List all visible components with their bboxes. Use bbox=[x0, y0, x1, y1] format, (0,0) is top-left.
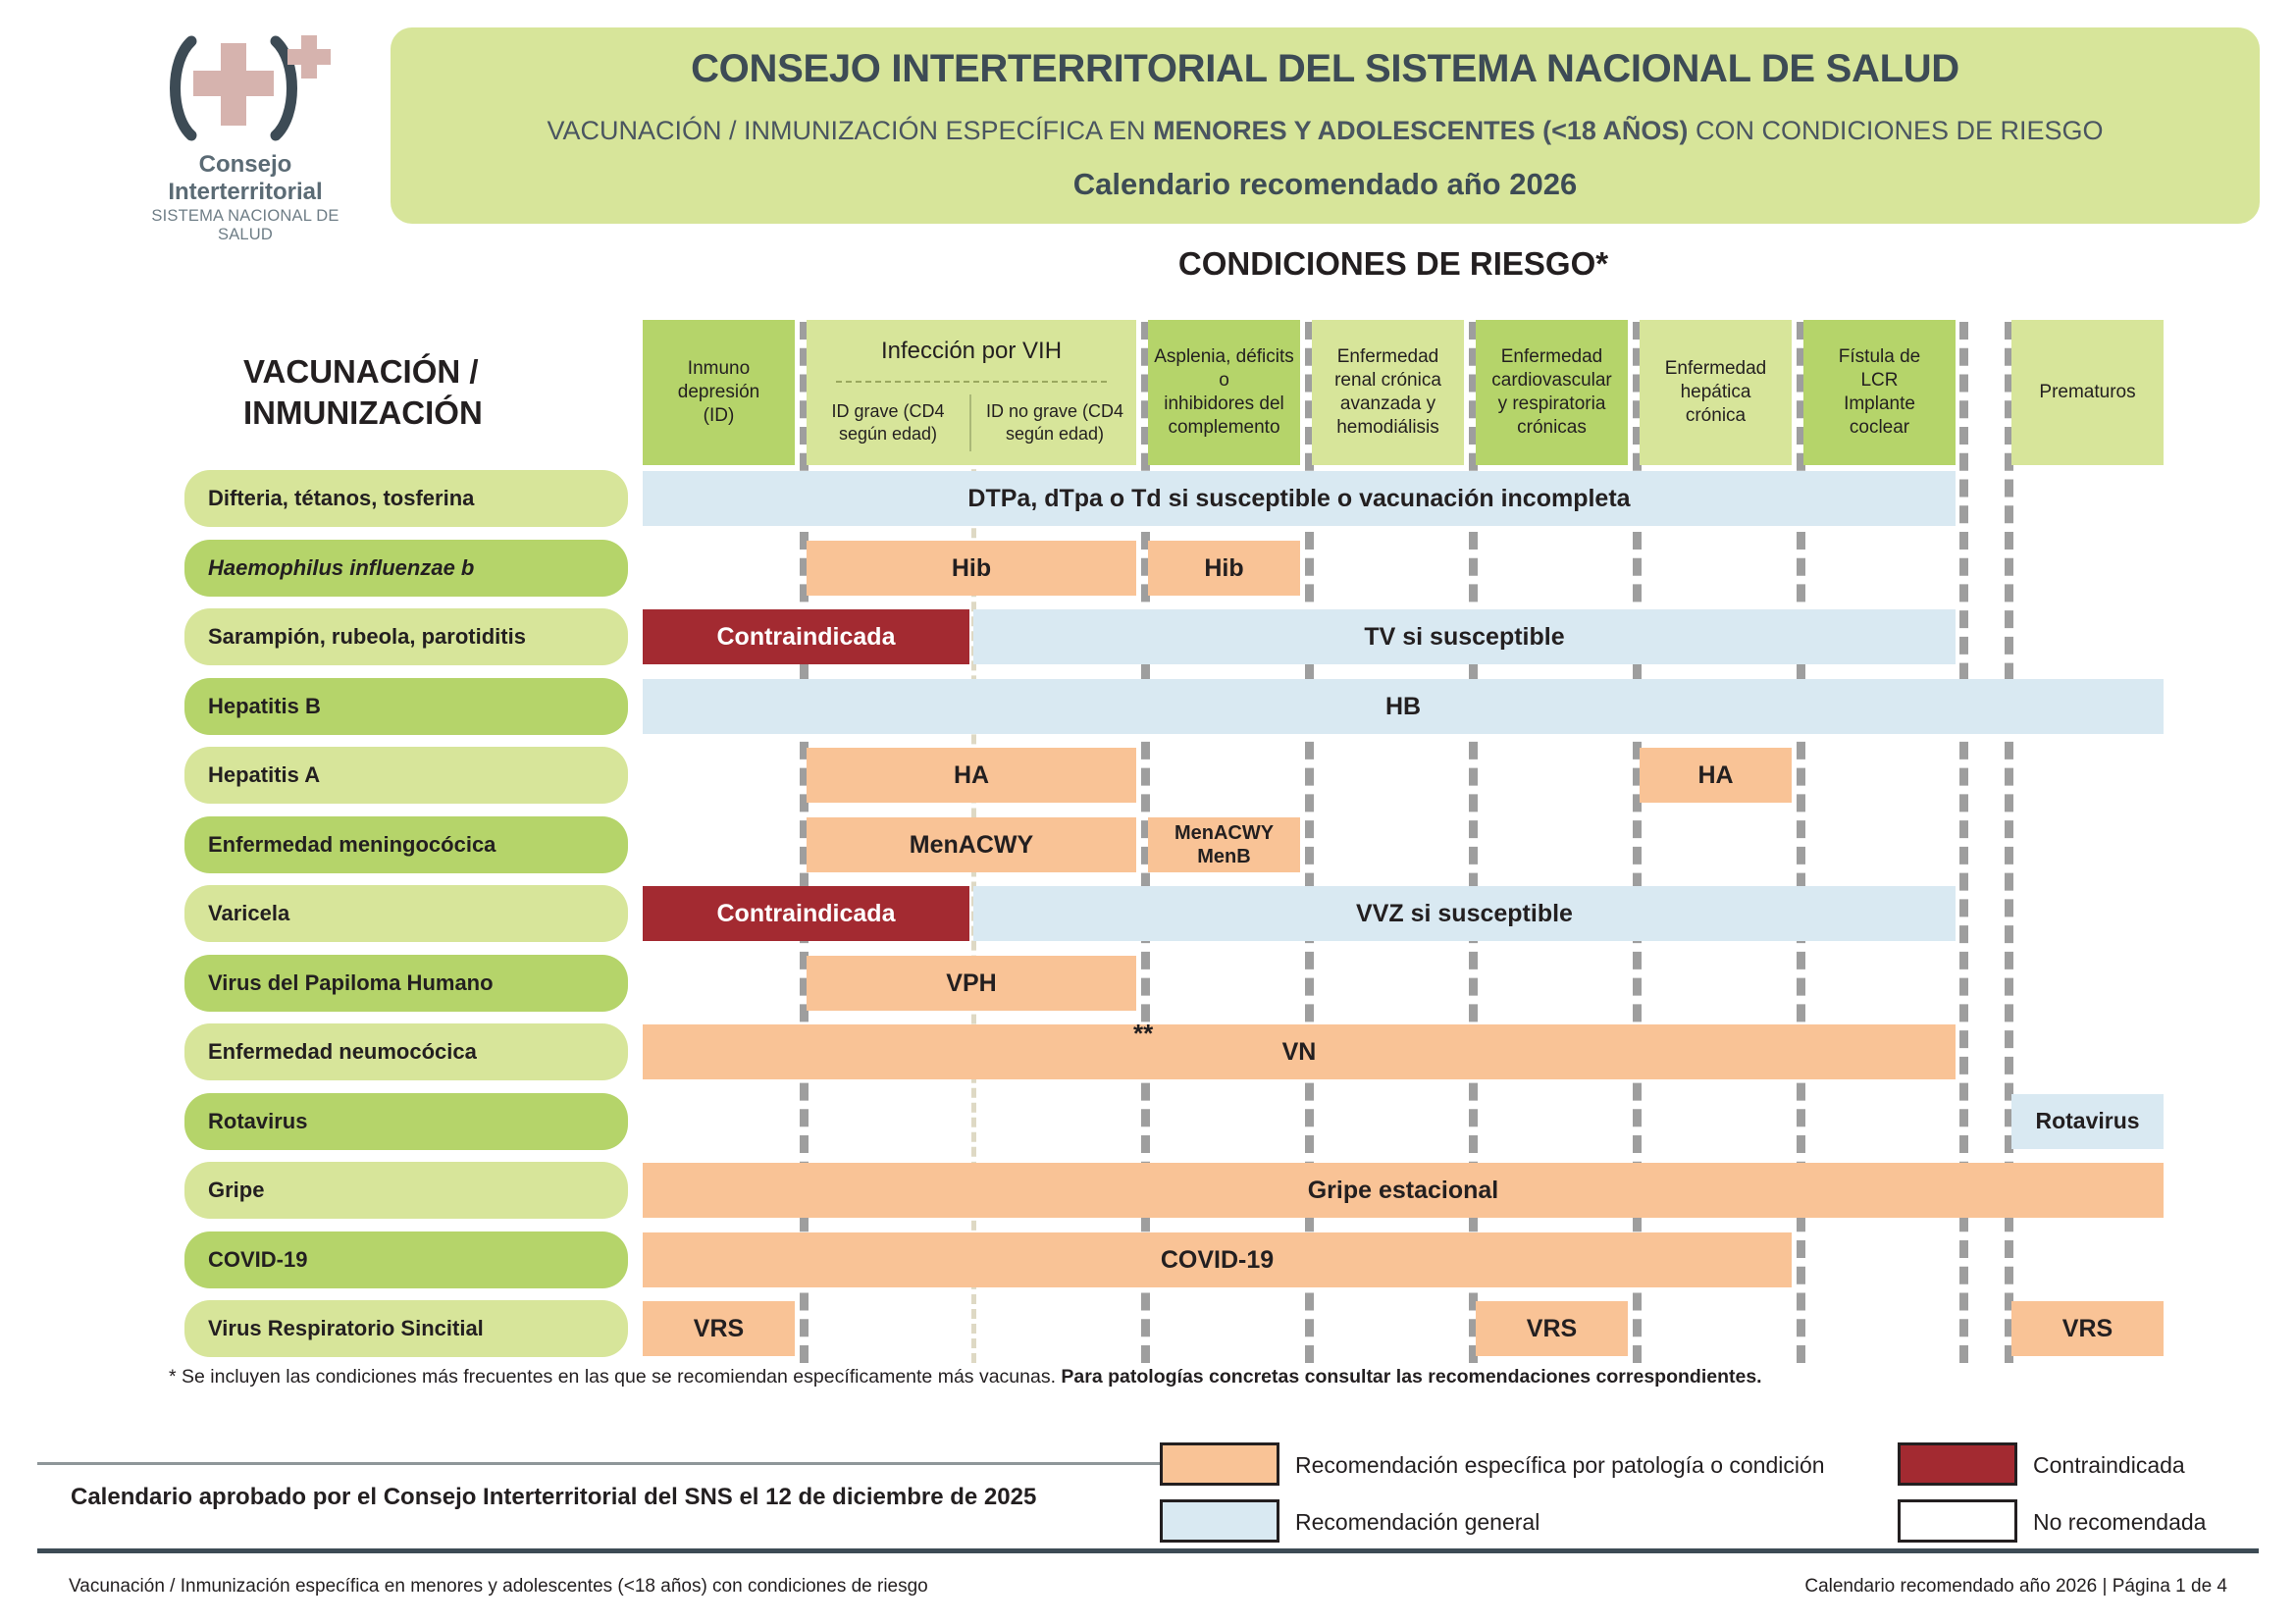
legend-swatch-contraindicated bbox=[1898, 1442, 2017, 1486]
matrix-cell-covid: COVID-19 bbox=[643, 1232, 1792, 1287]
column-header-label: Enfermedadhepáticacrónica bbox=[1665, 357, 1767, 428]
column-header-label: Enfermedadrenal crónicaavanzada yhemodiá… bbox=[1334, 345, 1441, 440]
row-label-text: Haemophilus influenzae b bbox=[208, 555, 474, 581]
row-label-hib: Haemophilus influenzae b bbox=[184, 540, 628, 597]
vih-group-divider bbox=[836, 381, 1107, 383]
matrix-cell-label: MenACWY bbox=[910, 830, 1033, 860]
matrix-cell-rota: Rotavirus bbox=[2011, 1094, 2164, 1149]
matrix-cell-label: DTPa, dTpa o Td si susceptible o vacunac… bbox=[967, 484, 1630, 513]
approved-divider bbox=[37, 1462, 1166, 1465]
legend-label-specific: Recomendación específica por patología o… bbox=[1295, 1452, 1825, 1479]
matrix-cell-men: MenACWYMenB bbox=[1148, 817, 1300, 872]
row-label-vvz: Varicela bbox=[184, 885, 628, 942]
matrix-cell-label: VRS bbox=[694, 1314, 744, 1343]
column-header-group-vih-label: Infección por VIH bbox=[807, 338, 1136, 365]
row-label-text: COVID-19 bbox=[208, 1247, 307, 1273]
matrix-cell-vrs: VRS bbox=[2011, 1301, 2164, 1356]
matrix-cell-label: VPH bbox=[946, 969, 996, 998]
footer-divider bbox=[37, 1548, 2259, 1553]
matrix-cell-label: HB bbox=[1385, 692, 1421, 721]
matrix-cell-label: VN bbox=[1282, 1037, 1317, 1067]
footnote: * Se incluyen las condiciones más frecue… bbox=[169, 1366, 2131, 1388]
matrix-cell-label: Gripe estacional bbox=[1308, 1176, 1499, 1205]
column-header-label: Fístula deLCRImplantecoclear bbox=[1839, 345, 1920, 440]
matrix-cell-men: MenACWY bbox=[807, 817, 1136, 872]
row-label-text: Rotavirus bbox=[208, 1109, 307, 1134]
matrix-cell-vn: VN bbox=[643, 1024, 1956, 1079]
row-label-text: Varicela bbox=[208, 901, 289, 926]
matrix-cell-ha: HA bbox=[807, 748, 1136, 803]
matrix-cell-dtp: DTPa, dTpa o Td si susceptible o vacunac… bbox=[643, 471, 1956, 526]
row-label-vrs: Virus Respiratorio Sincitial bbox=[184, 1300, 628, 1357]
matrix-cell-vvz: VVZ si susceptible bbox=[973, 886, 1956, 941]
column-header-asplenia: Asplenia, déficits oinhibidores delcompl… bbox=[1148, 320, 1300, 465]
column-header-renal: Enfermedadrenal crónicaavanzada yhemodiá… bbox=[1312, 320, 1464, 465]
matrix-cell-hib: Hib bbox=[1148, 541, 1300, 596]
column-header-vih-grave: ID grave (CD4según edad) bbox=[807, 400, 969, 446]
legend-swatch-general bbox=[1160, 1499, 1279, 1543]
matrix-cell-footnote-marker: ** bbox=[1133, 1019, 1153, 1049]
row-label-vn: Enfermedad neumocócica bbox=[184, 1023, 628, 1080]
column-header-label: Asplenia, déficits oinhibidores delcompl… bbox=[1152, 345, 1296, 440]
matrix-cell-ha: HA bbox=[1640, 748, 1792, 803]
matrix-cell-vph: VPH bbox=[807, 956, 1136, 1011]
legend-swatch-specific bbox=[1160, 1442, 1279, 1486]
column-header-fistula: Fístula deLCRImplantecoclear bbox=[1803, 320, 1956, 465]
footnote-bold: Para patologías concretas consultar las … bbox=[1061, 1366, 1761, 1388]
matrix-cell-label: MenACWYMenB bbox=[1174, 821, 1274, 868]
footer-right-text: Calendario recomendado año 2026 | Página… bbox=[1804, 1576, 2227, 1598]
legend-label-contraindicated: Contraindicada bbox=[2033, 1452, 2185, 1479]
matrix-cell-label: HA bbox=[954, 760, 989, 790]
matrix-cell-gripe: Gripe estacional bbox=[643, 1163, 2164, 1218]
matrix-cell-label: Contraindicada bbox=[717, 899, 896, 928]
matrix-cell-vvz: Contraindicada bbox=[643, 886, 969, 941]
matrix-cell-label: Hib bbox=[952, 553, 991, 583]
matrix-cell-label: VRS bbox=[1527, 1314, 1577, 1343]
row-label-gripe: Gripe bbox=[184, 1162, 628, 1219]
row-label-hb: Hepatitis B bbox=[184, 678, 628, 735]
matrix-cell-tv: Contraindicada bbox=[643, 609, 969, 664]
row-label-text: Virus del Papiloma Humano bbox=[208, 970, 494, 996]
row-label-text: Difteria, tétanos, tosferina bbox=[208, 486, 474, 511]
column-header-id: Inmunodepresión(ID) bbox=[643, 320, 795, 465]
column-header-label: Prematuros bbox=[2039, 381, 2135, 404]
matrix-cell-tv: TV si susceptible bbox=[973, 609, 1956, 664]
legend-swatch-not-recommended bbox=[1898, 1499, 2017, 1543]
matrix-cell-label: Rotavirus bbox=[2035, 1108, 2139, 1135]
legend-label-general: Recomendación general bbox=[1295, 1509, 1539, 1536]
matrix-cell-label: COVID-19 bbox=[1161, 1245, 1274, 1275]
row-label-vph: Virus del Papiloma Humano bbox=[184, 955, 628, 1012]
footer-left-text: Vacunación / Inmunización específica en … bbox=[69, 1576, 928, 1598]
row-label-text: Hepatitis B bbox=[208, 694, 321, 719]
row-label-text: Sarampión, rubeola, parotiditis bbox=[208, 624, 526, 650]
row-label-tv: Sarampión, rubeola, parotiditis bbox=[184, 608, 628, 665]
row-label-text: Virus Respiratorio Sincitial bbox=[208, 1316, 484, 1341]
footnote-normal: * Se incluyen las condiciones más frecue… bbox=[169, 1366, 1061, 1388]
matrix-cell-hib: Hib bbox=[807, 541, 1136, 596]
matrix-cell-vrs: VRS bbox=[643, 1301, 795, 1356]
row-label-men: Enfermedad meningocócica bbox=[184, 816, 628, 873]
approval-text: Calendario aprobado por el Consejo Inter… bbox=[71, 1484, 1036, 1511]
legend-label-not-recommended: No recomendada bbox=[2033, 1509, 2206, 1536]
row-label-text: Enfermedad neumocócica bbox=[208, 1039, 477, 1065]
column-header-vih-nograve: ID no grave (CD4según edad) bbox=[973, 400, 1136, 446]
row-label-covid: COVID-19 bbox=[184, 1231, 628, 1288]
matrix-cell-label: Contraindicada bbox=[717, 622, 896, 652]
matrix-cell-label: VVZ si susceptible bbox=[1356, 899, 1573, 928]
column-header-cardio: Enfermedadcardiovasculary respiratoriacr… bbox=[1476, 320, 1628, 465]
matrix-cell-vrs: VRS bbox=[1476, 1301, 1628, 1356]
row-label-dtp: Difteria, tétanos, tosferina bbox=[184, 470, 628, 527]
matrix-cell-label: HA bbox=[1697, 760, 1733, 790]
matrix-cell-label: Hib bbox=[1204, 553, 1243, 583]
vih-subcolumn-divider bbox=[969, 394, 971, 451]
row-label-text: Hepatitis A bbox=[208, 762, 320, 788]
column-header-label: Inmunodepresión(ID) bbox=[678, 357, 759, 428]
matrix-cell-hb: HB bbox=[643, 679, 2164, 734]
column-header-label: Enfermedadcardiovasculary respiratoriacr… bbox=[1491, 345, 1612, 440]
row-label-rota: Rotavirus bbox=[184, 1093, 628, 1150]
row-label-ha: Hepatitis A bbox=[184, 747, 628, 804]
row-label-text: Enfermedad meningocócica bbox=[208, 832, 496, 858]
matrix-cell-label: TV si susceptible bbox=[1364, 622, 1564, 652]
column-header-hepatica: Enfermedadhepáticacrónica bbox=[1640, 320, 1792, 465]
matrix-cell-label: VRS bbox=[2062, 1314, 2113, 1343]
column-header-prematuros: Prematuros bbox=[2011, 320, 2164, 465]
row-label-text: Gripe bbox=[208, 1178, 264, 1203]
